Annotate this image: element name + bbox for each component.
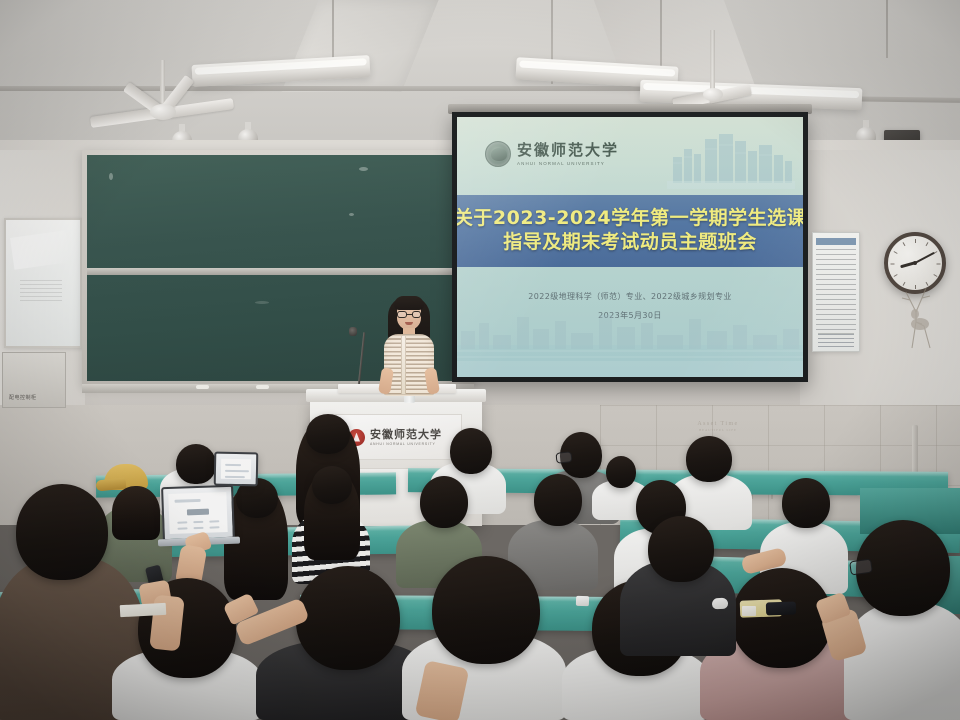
slide-subtitle: 2022级地理科学（师范）专业、2022级城乡规划专业 [457, 291, 803, 302]
laptop-display-content-2 [221, 459, 251, 480]
projector-screen: 安徽师范大学 ANHUI NORMAL UNIVERSITY 关于2023-20… [452, 112, 808, 382]
city-skyline-watermark-icon [667, 131, 795, 189]
poster-title-bar [816, 238, 856, 245]
clock-minute-hand [915, 252, 935, 264]
student-head [306, 414, 350, 454]
poster-footer-rows [818, 333, 854, 347]
presenter-bangs [394, 296, 424, 310]
clock-center-pin [913, 261, 917, 265]
script-decal-text: Asset Time [697, 421, 738, 427]
slide-body: 2022级地理科学（师范）专业、2022级城乡规划专业 2023年5月30日 [457, 267, 803, 377]
student-head [432, 556, 540, 664]
presenter-speaker [378, 292, 440, 404]
university-seal-icon [485, 141, 511, 167]
slide-title-line-2: 指导及期末考试动员主题班会 [503, 232, 757, 254]
student-head [534, 474, 582, 526]
podium-plaque-en: ANHUI NORMAL UNIVERSITY [370, 442, 436, 446]
chalk-piece-1[interactable] [196, 385, 209, 389]
light-hanger-3 [886, 0, 888, 58]
student-head [732, 568, 832, 668]
student-head [648, 516, 714, 582]
student-head [176, 444, 216, 484]
light-hanger-4 [660, 0, 662, 72]
podium-plaque-cn: 安徽师范大学 [370, 429, 442, 440]
presenter-glasses-icon [397, 311, 421, 318]
slide-title-band: 关于2023-2024学年第一学期学生选课 指导及期末考试动员主题班会 [457, 195, 803, 267]
student-head [606, 456, 636, 488]
slide-title-line-1: 关于2023-2024学年第一学期学生选课 [457, 208, 803, 230]
whiteboard [4, 218, 82, 348]
classroom-photo: 配电控制柜 [0, 0, 960, 720]
light-hanger-1 [332, 0, 334, 62]
laptop-screen-2[interactable] [214, 452, 259, 487]
student-head [686, 436, 732, 482]
student-long-hair [112, 486, 160, 540]
student-head [16, 484, 108, 580]
schedule-notice-poster [812, 232, 860, 352]
presentation-slide: 安徽师范大学 ANHUI NORMAL UNIVERSITY 关于2023-20… [457, 117, 803, 377]
microphone-icon [349, 327, 357, 336]
eraser[interactable] [576, 596, 589, 606]
script-decal-sub: BEAUTIFUL LIFE [686, 428, 750, 432]
paper-slip[interactable] [742, 606, 756, 616]
control-cabinet[interactable]: 配电控制柜 [2, 352, 66, 408]
student-head [420, 476, 468, 528]
poster-text-rows [816, 249, 856, 331]
city-panorama-watermark-icon [457, 305, 803, 377]
chalkboard-center-rail [87, 268, 469, 275]
student-head [782, 478, 830, 528]
student-head [312, 466, 352, 504]
control-cabinet-label: 配电控制柜 [9, 394, 37, 401]
student-head [450, 428, 492, 474]
student-head [296, 566, 400, 670]
presenter-shirt-placket [401, 336, 406, 394]
script-wall-decal: Asset Time BEAUTIFUL LIFE [686, 421, 750, 439]
whiteboard-glare [10, 230, 70, 269]
university-name-en: ANHUI NORMAL UNIVERSITY [517, 161, 619, 166]
ceiling-rail-left [0, 86, 720, 91]
laptop-display-content [168, 492, 227, 534]
chalk-piece-2[interactable] [256, 385, 269, 389]
student-shoulders [844, 602, 960, 720]
paper-sheet[interactable] [120, 603, 167, 617]
university-name-cn: 安徽师范大学 [517, 143, 619, 158]
computer-mouse[interactable] [712, 598, 729, 610]
student-glasses-icon [555, 451, 572, 464]
slide-header-band: 安徽师范大学 ANHUI NORMAL UNIVERSITY [457, 117, 803, 195]
slide-university-logo: 安徽师范大学 ANHUI NORMAL UNIVERSITY [485, 141, 619, 167]
smartphone-on-desk[interactable] [766, 601, 796, 615]
deer-wall-decal-icon [896, 278, 952, 358]
